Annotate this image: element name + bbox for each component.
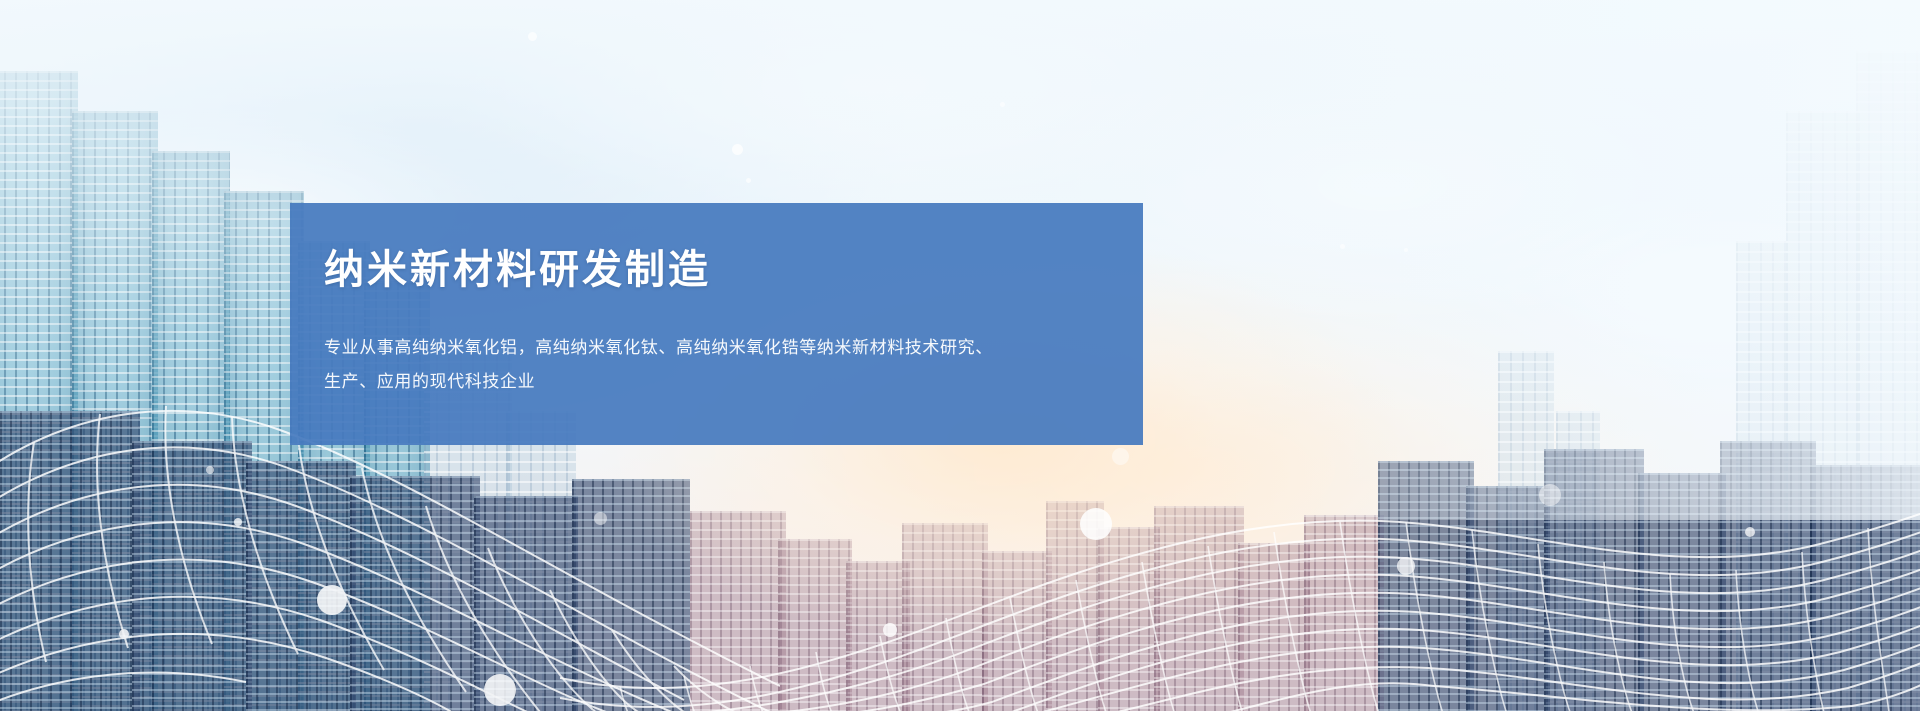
building-silhouette [132, 441, 252, 711]
building-silhouette [902, 523, 988, 711]
bokeh-dot [1539, 484, 1561, 506]
building-silhouette [1720, 441, 1816, 711]
bokeh-dot [732, 144, 743, 155]
bokeh-dot [1112, 448, 1129, 465]
building-silhouette [1154, 506, 1244, 711]
building-silhouette [474, 496, 578, 711]
building-silhouette [246, 461, 356, 711]
building-silhouette [846, 561, 910, 711]
building-silhouette [778, 539, 852, 711]
hero-subtitle-line-2: 生产、应用的现代科技企业 [324, 365, 1109, 399]
building-silhouette [572, 479, 690, 711]
building-silhouette [350, 476, 480, 711]
building-silhouette [1098, 527, 1160, 711]
bokeh-dot [1404, 248, 1408, 252]
building-silhouette [1466, 486, 1550, 711]
page-title: 纳米新材料研发制造 [324, 247, 1109, 293]
hero-subtitle: 专业从事高纯纳米氧化铝，高纯纳米氧化钛、高纯纳米氧化锆等纳米新材料技术研究、 生… [324, 331, 1109, 399]
building-silhouette [690, 511, 786, 711]
building-silhouette [1238, 543, 1310, 711]
building-silhouette [1810, 465, 1920, 711]
building-silhouette [1378, 461, 1474, 711]
bokeh-dot [1340, 244, 1345, 249]
bokeh-dot [1000, 102, 1005, 107]
building-silhouette [1304, 515, 1384, 711]
bokeh-dot [528, 32, 537, 41]
building-silhouette [982, 551, 1052, 711]
building-silhouette [1046, 501, 1104, 711]
hero-text-panel: 纳米新材料研发制造 专业从事高纯纳米氧化铝，高纯纳米氧化钛、高纯纳米氧化锆等纳米… [290, 203, 1143, 445]
bokeh-dot [594, 512, 607, 525]
hero-subtitle-line-1: 专业从事高纯纳米氧化铝，高纯纳米氧化钛、高纯纳米氧化锆等纳米新材料技术研究、 [324, 331, 1109, 365]
hero-banner: 纳米新材料研发制造 专业从事高纯纳米氧化铝，高纯纳米氧化钛、高纯纳米氧化锆等纳米… [0, 0, 1920, 711]
bokeh-dot [206, 466, 214, 474]
bokeh-dot [746, 178, 751, 183]
building-silhouette [1638, 473, 1726, 711]
building-silhouette [0, 411, 140, 711]
